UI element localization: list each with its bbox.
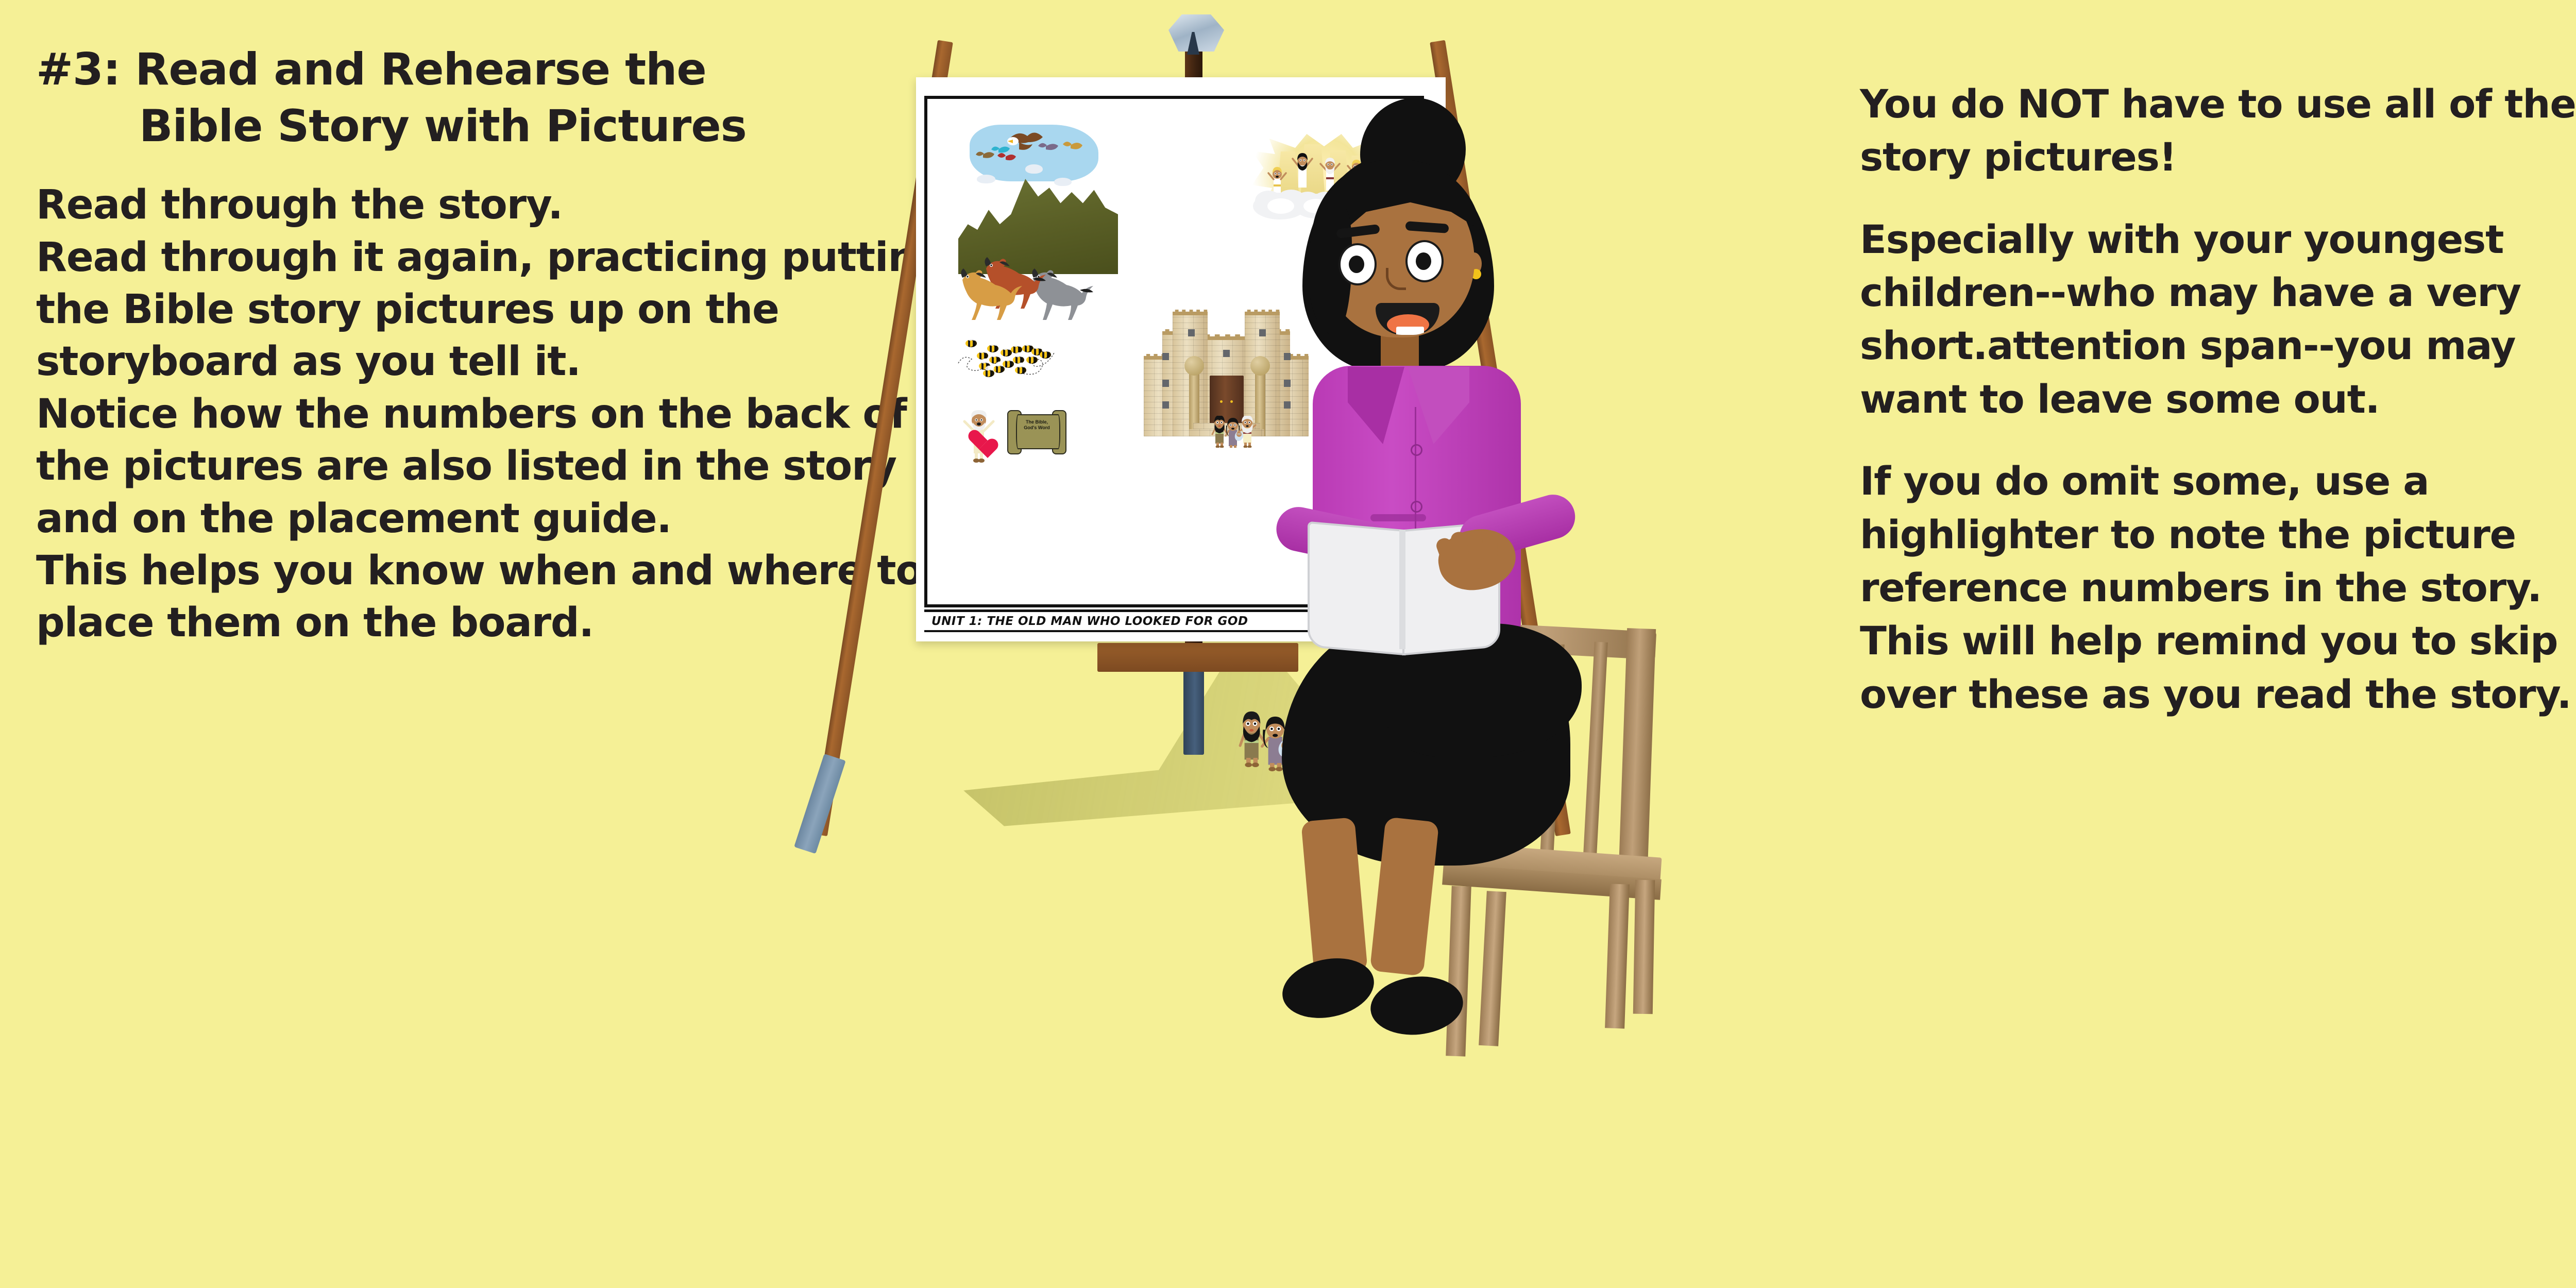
bee-icon: [983, 369, 994, 377]
bee-icon: [987, 345, 998, 352]
snow-cap-icon: [977, 175, 995, 183]
chair-back-post-right: [1619, 628, 1656, 871]
scene-illustration: The Bible, God's Word: [876, 0, 1880, 1288]
book-spine: [1399, 530, 1405, 649]
page-title: #3: Read and Rehearse the Bible Story wi…: [36, 41, 963, 155]
bee-icon: [1040, 351, 1051, 359]
left-paragraph-1: Read through the story.: [36, 179, 963, 231]
teacher-button: [1411, 444, 1422, 456]
bible-scroll-icon: The Bible, God's Word: [1007, 408, 1066, 455]
left-paragraph-2: Read through it again, practicing puttin…: [36, 232, 963, 388]
old-man-with-heart-icon: [959, 408, 998, 465]
castle-window: [1162, 353, 1169, 360]
bee-icon: [1015, 366, 1026, 374]
easel-center-foot-icon: [1183, 665, 1204, 755]
castle-pillar-cap: [1184, 356, 1204, 376]
running-horses-icon: [956, 251, 1095, 320]
right-paragraph-3: If you do omit some, use a highlighter t…: [1860, 454, 2576, 721]
castle-crenel: [1173, 310, 1208, 315]
teacher-figure: [1216, 98, 1618, 1180]
teacher-pocket-flap: [1370, 514, 1426, 521]
poster-caption-left: UNIT 1: THE OLD MAN WHO LOOKED FOR GOD: [931, 615, 1248, 628]
bee-icon: [1003, 360, 1014, 368]
scroll-label: The Bible, God's Word: [1007, 419, 1066, 431]
heading-line-2: Bible Story with Pictures: [36, 98, 963, 155]
finger: [1482, 533, 1498, 566]
bee-icon: [993, 365, 1005, 373]
left-paragraph-4: This helps you know when and where to pl…: [36, 545, 963, 650]
castle-window: [1162, 401, 1169, 409]
scroll-label-line1: The Bible,: [1007, 419, 1066, 425]
heart-icon: [968, 431, 990, 451]
right-paragraph-2: Especially with your youngest children--…: [1860, 213, 2576, 426]
snow-cap-icon: [1054, 178, 1072, 186]
snow-cap-icon: [1025, 164, 1043, 174]
scroll-label-line2: God's Word: [1007, 425, 1066, 431]
bee-icon: [1026, 356, 1038, 364]
easel-left-foot-icon: [794, 754, 846, 854]
bee-icon: [965, 340, 977, 347]
right-text-column: You do NOT have to use all of the story …: [1860, 77, 2576, 750]
left-text-column: #3: Read and Rehearse the Bible Story wi…: [36, 41, 963, 650]
teacher-eye-right: [1405, 240, 1444, 282]
right-paragraph-1: You do NOT have to use all of the story …: [1860, 77, 2576, 184]
swarm-of-bees-icon: [957, 333, 1068, 385]
book-page-left: [1308, 521, 1405, 656]
chair-leg-back-right: [1633, 880, 1655, 1014]
teacher-eye-left: [1338, 243, 1377, 285]
slide-canvas: #3: Read and Rehearse the Bible Story wi…: [0, 0, 2576, 1288]
castle-window: [1162, 380, 1169, 387]
bee-icon: [1001, 349, 1012, 357]
teacher-button: [1411, 501, 1422, 513]
teacher-teeth: [1396, 327, 1424, 335]
left-paragraph-3: Notice how the numbers on the back of th…: [36, 388, 963, 545]
heading-line-1: #3: Read and Rehearse the: [36, 44, 706, 95]
castle-window: [1188, 329, 1195, 336]
teacher-shoe-right: [1368, 972, 1466, 1039]
